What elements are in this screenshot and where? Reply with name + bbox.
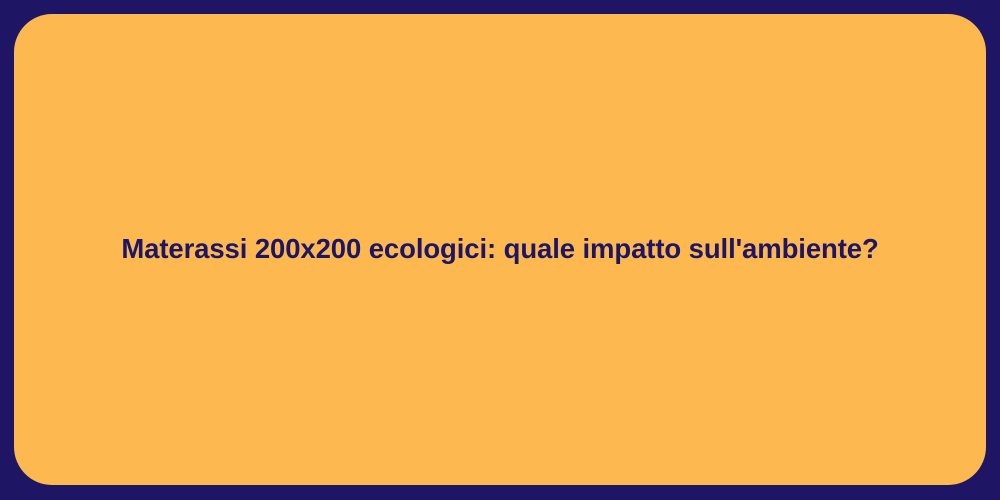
- banner-headline: Materassi 200x200 ecologici: quale impat…: [121, 232, 878, 266]
- banner-frame: Materassi 200x200 ecologici: quale impat…: [0, 0, 1000, 500]
- banner-card: Materassi 200x200 ecologici: quale impat…: [14, 14, 986, 485]
